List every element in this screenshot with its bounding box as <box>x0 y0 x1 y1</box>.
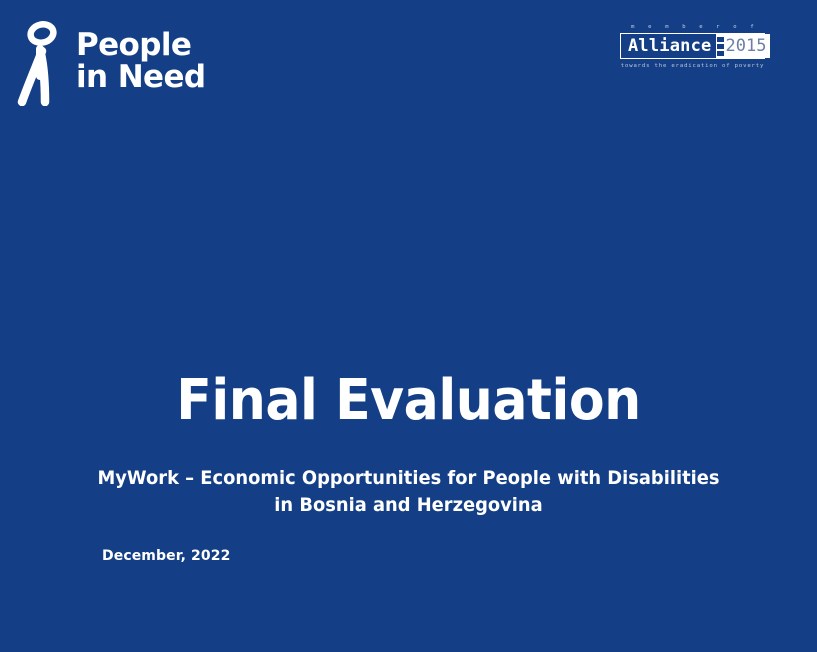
alliance-member-of-text: m e m b e r o f <box>620 24 765 30</box>
document-subtitle: MyWork – Economic Opportunities for Peop… <box>25 465 793 519</box>
alliance-divider-icon <box>716 34 725 58</box>
document-cover-page: People in Need m e m b e r o f Alliance … <box>0 0 817 652</box>
document-title: Final Evaluation <box>29 372 789 431</box>
people-in-need-wordmark: People in Need <box>76 30 205 93</box>
document-subtitle-line-1: MyWork – Economic Opportunities for Peop… <box>81 465 736 492</box>
alliance-tagline-text: towards the eradication of poverty <box>620 63 765 69</box>
document-subtitle-line-2: in Bosnia and Herzegovina <box>81 492 736 519</box>
logo-line-2: in Need <box>76 62 205 94</box>
title-block: Final Evaluation MyWork – Economic Oppor… <box>0 372 817 519</box>
document-date: December, 2022 <box>102 548 230 564</box>
alliance-year-text: 2015 <box>725 34 770 58</box>
person-figure-icon <box>14 18 66 106</box>
people-in-need-logo: People in Need <box>14 16 244 108</box>
logo-line-1: People <box>76 30 205 62</box>
alliance-logo-box: Alliance 2015 <box>620 33 765 59</box>
alliance-2015-logo: m e m b e r o f Alliance 2015 towards th… <box>620 24 765 69</box>
alliance-name-text: Alliance <box>621 34 716 58</box>
